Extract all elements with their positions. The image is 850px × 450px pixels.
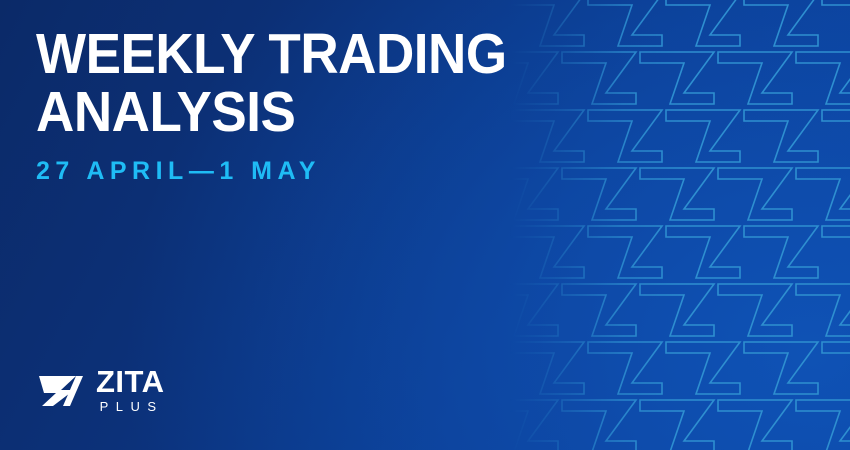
page-title-line-2: ANALYSIS <box>36 83 557 141</box>
zita-plus-logo: ZITA PLUS <box>36 367 165 414</box>
zigzag-z-shape <box>640 52 714 104</box>
zigzag-z-shape <box>744 0 818 46</box>
logo-wordmark: ZITA PLUS <box>96 367 165 414</box>
zigzag-z-shape <box>510 284 558 336</box>
zigzag-z-shape <box>666 342 740 394</box>
logo-name: ZITA <box>96 367 165 397</box>
zigzag-z-shape <box>510 342 584 394</box>
zigzag-z-shape <box>796 168 850 220</box>
headline-block: WEEKLY TRADING ANALYSIS 27 APRIL—1 MAY <box>36 25 596 185</box>
zigzag-z-shape <box>718 52 792 104</box>
zigzag-z-shape <box>718 400 792 450</box>
page-title-line-1: WEEKLY TRADING <box>36 25 557 83</box>
zigzag-z-shape <box>796 284 850 336</box>
zigzag-z-shape <box>744 226 818 278</box>
zigzag-z-shape <box>822 110 850 162</box>
zigzag-z-shape <box>822 342 850 394</box>
zigzag-z-shape <box>510 400 558 450</box>
zigzag-z-shape <box>822 226 850 278</box>
zigzag-z-shape <box>666 0 740 46</box>
zigzag-z-shape <box>588 226 662 278</box>
zigzag-z-shape <box>718 284 792 336</box>
zigzag-z-shape <box>822 0 850 46</box>
zigzag-z-shape <box>562 400 636 450</box>
zigzag-z-shape <box>666 226 740 278</box>
zigzag-z-shape <box>562 284 636 336</box>
zigzag-z-shape <box>510 226 584 278</box>
zigzag-z-shape <box>666 110 740 162</box>
zita-z-mark-icon <box>36 374 84 408</box>
weekly-trading-analysis-banner: WEEKLY TRADING ANALYSIS 27 APRIL—1 MAY Z… <box>0 0 850 450</box>
zigzag-z-shape <box>744 342 818 394</box>
logo-tagline: PLUS <box>96 399 165 414</box>
zigzag-z-shape <box>640 284 714 336</box>
zigzag-z-shape <box>588 342 662 394</box>
zigzag-z-shape <box>796 400 850 450</box>
zigzag-z-shape <box>796 52 850 104</box>
zigzag-z-shape <box>588 0 662 46</box>
zigzag-z-shape <box>640 168 714 220</box>
zigzag-z-shape <box>588 110 662 162</box>
date-range-subtitle: 27 APRIL—1 MAY <box>36 157 596 185</box>
zigzag-z-shape <box>640 400 714 450</box>
zigzag-z-shape <box>718 168 792 220</box>
zigzag-z-shape <box>744 110 818 162</box>
